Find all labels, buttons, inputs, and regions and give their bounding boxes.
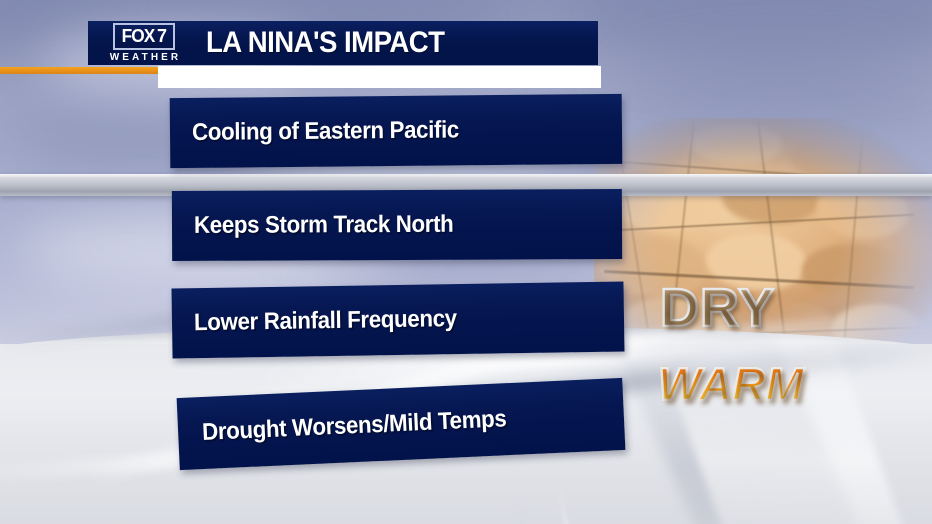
fox7-weather-logo[interactable]: FOX 7 WEATHER bbox=[96, 23, 192, 63]
page-title: LA NINA'S IMPACT bbox=[206, 26, 444, 60]
header-underline-band bbox=[158, 66, 601, 88]
header-bar: FOX 7 WEATHER LA NINA'S IMPACT bbox=[88, 21, 598, 65]
weather-graphic-stage: FOX 7 WEATHER LA NINA'S IMPACT Cooling o… bbox=[0, 0, 932, 524]
fox-channel-number: 7 bbox=[157, 27, 167, 45]
accent-stripe bbox=[0, 67, 158, 74]
condition-label-dry: DRY bbox=[660, 277, 775, 339]
impact-point-label: Keeps Storm Track North bbox=[194, 211, 453, 240]
fox-weather-subtitle: WEATHER bbox=[107, 53, 182, 63]
condition-label-warm: WARM bbox=[658, 357, 804, 411]
fox7-logo-box: FOX 7 bbox=[113, 23, 175, 50]
impact-point-label: Drought Worsens/Mild Temps bbox=[202, 405, 507, 447]
impact-point-bar: Lower Rainfall Frequency bbox=[171, 281, 624, 358]
studio-beam-highlight bbox=[0, 174, 932, 177]
fox-brand-text: FOX bbox=[122, 27, 155, 45]
impact-point-bar: Keeps Storm Track North bbox=[172, 189, 622, 261]
impact-point-label: Lower Rainfall Frequency bbox=[194, 305, 457, 337]
impact-point-label: Cooling of Eastern Pacific bbox=[192, 116, 459, 147]
impact-point-bar: Cooling of Eastern Pacific bbox=[170, 94, 623, 168]
